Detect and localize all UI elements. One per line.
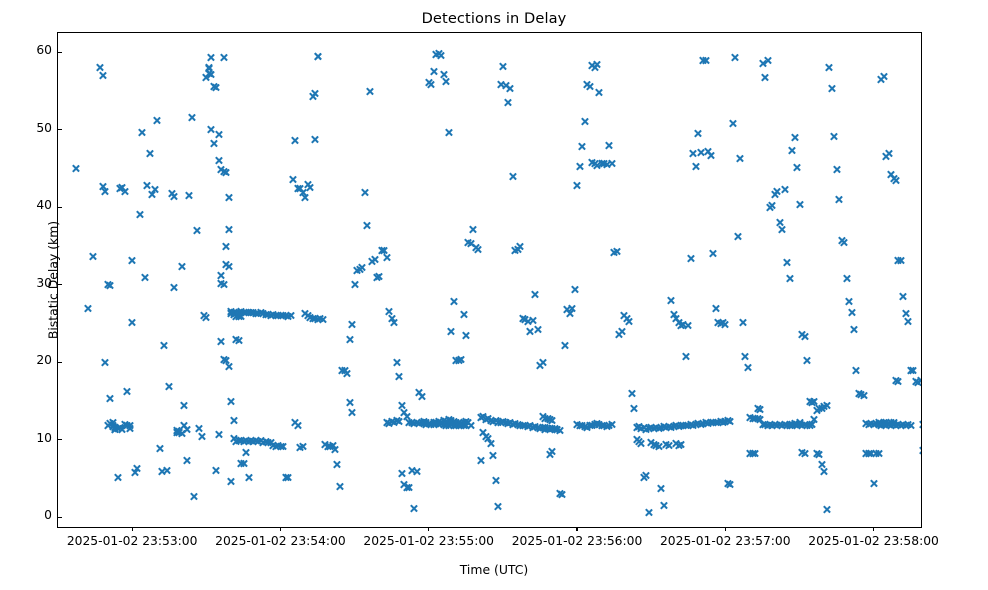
scatter-marker	[100, 358, 109, 367]
scatter-marker	[736, 154, 745, 163]
scatter-marker	[291, 136, 300, 145]
scatter-marker	[170, 283, 179, 292]
scatter-marker	[810, 397, 819, 406]
scatter-marker	[138, 128, 147, 137]
x-tick-label: 2025-01-02 23:58:00	[808, 534, 939, 548]
scatter-marker	[123, 421, 132, 430]
x-tick-mark	[280, 527, 281, 531]
scatter-marker	[575, 162, 584, 171]
scatter-marker	[152, 116, 161, 125]
scatter-marker	[412, 467, 421, 476]
scatter-marker	[222, 242, 231, 251]
x-tick-mark	[725, 527, 726, 531]
scatter-marker	[681, 352, 690, 361]
scatter-marker	[768, 201, 777, 210]
scatter-marker	[577, 142, 586, 151]
y-tick-mark	[58, 517, 62, 518]
scatter-marker	[686, 254, 695, 263]
scatter-marker	[750, 449, 759, 458]
scatter-marker	[370, 255, 379, 264]
scatter-marker	[345, 335, 354, 344]
scatter-marker	[617, 327, 626, 336]
scatter-marker	[701, 56, 710, 65]
scatter-marker	[449, 297, 458, 306]
y-tick-mark	[58, 52, 62, 53]
x-tick-mark	[132, 527, 133, 531]
y-axis-label: Bistatic Delay (km)	[46, 221, 61, 339]
scatter-marker	[71, 164, 80, 173]
y-tick-mark	[58, 129, 62, 130]
scatter-marker	[335, 482, 344, 491]
scatter-marker	[293, 421, 302, 430]
scatter-marker	[207, 53, 216, 62]
scatter-marker	[390, 318, 399, 327]
scatter-marker	[83, 304, 92, 313]
scatter-marker	[105, 281, 114, 290]
scatter-marker	[869, 479, 878, 488]
y-tick-mark	[58, 362, 62, 363]
scatter-marker	[859, 391, 868, 400]
scatter-marker	[820, 467, 829, 476]
scatter-marker	[637, 439, 646, 448]
scatter-marker	[113, 473, 122, 482]
scatter-marker	[800, 449, 809, 458]
scatter-marker	[560, 341, 569, 350]
scatter-marker	[244, 473, 253, 482]
scatter-marker	[607, 159, 616, 168]
scatter-marker	[889, 418, 898, 427]
scatter-marker	[234, 336, 243, 345]
scatter-marker	[795, 200, 804, 209]
scatter-marker	[224, 362, 233, 371]
scatter-marker	[612, 247, 621, 256]
scatter-marker	[333, 460, 342, 469]
scatter-marker	[224, 193, 233, 202]
scatter-marker	[227, 397, 236, 406]
scatter-marker	[691, 162, 700, 171]
scatter-marker	[278, 442, 287, 451]
scatter-marker	[592, 161, 601, 170]
x-tick-mark	[576, 527, 577, 531]
x-tick-mark	[428, 527, 429, 531]
scatter-marker	[508, 172, 517, 181]
scatter-marker	[283, 473, 292, 482]
scatter-marker	[491, 476, 500, 485]
scatter-marker	[486, 439, 495, 448]
scatter-marker	[800, 332, 809, 341]
scatter-marker	[189, 492, 198, 501]
scatter-marker	[365, 87, 374, 96]
x-axis-label: Time (UTC)	[0, 562, 988, 577]
scatter-marker	[140, 273, 149, 282]
scatter-marker	[548, 416, 557, 425]
scatter-marker	[133, 464, 142, 473]
y-tick-label: 10	[36, 431, 52, 445]
scatter-marker	[311, 135, 320, 144]
scatter-marker	[392, 358, 401, 367]
scatter-marker	[187, 113, 196, 122]
scatter-marker	[795, 418, 804, 427]
scatter-marker	[780, 185, 789, 194]
x-tick-label: 2025-01-02 23:53:00	[67, 534, 198, 548]
scatter-marker	[306, 183, 315, 192]
scatter-marker	[849, 325, 858, 334]
scatter-marker	[362, 221, 371, 230]
scatter-marker	[568, 304, 577, 313]
scatter-marker	[395, 372, 404, 381]
scatter-marker	[360, 188, 369, 197]
scatter-marker	[498, 62, 507, 71]
scatter-marker	[503, 98, 512, 107]
scatter-marker	[516, 242, 525, 251]
scatter-marker	[222, 168, 231, 177]
scatter-marker	[629, 404, 638, 413]
scatter-marker	[150, 185, 159, 194]
scatter-marker	[916, 376, 921, 385]
scatter-marker	[909, 366, 918, 375]
scatter-marker	[192, 226, 201, 235]
scatter-marker	[182, 425, 191, 434]
scatter-marker	[726, 417, 735, 426]
scatter-marker	[874, 449, 883, 458]
scatter-marker	[906, 421, 915, 430]
y-tick-label: 20	[36, 353, 52, 367]
scatter-marker	[429, 67, 438, 76]
scatter-marker	[573, 181, 582, 190]
scatter-marker	[348, 320, 357, 329]
scatter-marker	[657, 484, 666, 493]
y-tick-label: 50	[36, 121, 52, 135]
scatter-marker	[229, 416, 238, 425]
scatter-marker	[530, 290, 539, 299]
x-tick-label: 2025-01-02 23:56:00	[512, 534, 643, 548]
scatter-marker	[595, 88, 604, 97]
scatter-marker	[802, 356, 811, 365]
scatter-marker	[822, 401, 831, 410]
scatter-marker	[98, 71, 107, 80]
scatter-marker	[461, 331, 470, 340]
scatter-marker	[135, 210, 144, 219]
scatter-marker	[241, 448, 250, 457]
scatter-marker	[899, 292, 908, 301]
y-tick-mark	[58, 207, 62, 208]
scatter-marker	[659, 501, 668, 510]
scatter-marker	[585, 82, 594, 91]
scatter-marker	[207, 70, 216, 79]
scatter-marker	[404, 483, 413, 492]
scatter-marker	[842, 274, 851, 283]
scatter-marker	[224, 262, 233, 271]
scatter-marker	[834, 195, 843, 204]
scatter-marker	[879, 72, 888, 81]
scatter-marker	[605, 141, 614, 150]
scatter-marker	[313, 52, 322, 61]
scatter-marker	[182, 456, 191, 465]
scatter-marker	[120, 187, 129, 196]
scatter-marker	[684, 321, 693, 330]
scatter-marker	[128, 256, 137, 265]
scatter-marker	[721, 320, 730, 329]
scatter-marker	[830, 132, 839, 141]
scatter-marker	[642, 471, 651, 480]
scatter-marker	[170, 192, 179, 201]
scatter-marker	[180, 401, 189, 410]
scatter-marker	[894, 377, 903, 386]
scatter-marker	[810, 415, 819, 424]
scatter-marker	[437, 51, 446, 60]
scatter-marker	[788, 146, 797, 155]
scatter-marker	[607, 420, 616, 429]
scatter-marker	[558, 490, 567, 499]
scatter-marker	[459, 310, 468, 319]
scatter-marker	[627, 389, 636, 398]
scatter-marker	[469, 225, 478, 234]
scatter-marker	[427, 80, 436, 89]
scatter-marker	[822, 505, 831, 514]
scatter-marker	[844, 297, 853, 306]
scatter-marker	[666, 296, 675, 305]
scatter-marker	[177, 262, 186, 271]
scatter-marker	[827, 84, 836, 93]
scatter-marker	[493, 502, 502, 511]
scatter-marker	[778, 225, 787, 234]
scatter-marker	[533, 325, 542, 334]
scatter-marker	[755, 405, 764, 414]
scatter-marker	[694, 129, 703, 138]
x-tick-label: 2025-01-02 23:57:00	[660, 534, 791, 548]
scatter-marker	[145, 149, 154, 158]
scatter-marker	[884, 149, 893, 158]
scatter-marker	[202, 313, 211, 322]
scatter-marker	[345, 398, 354, 407]
scatter-marker	[731, 53, 740, 62]
scatter-marker	[538, 358, 547, 367]
scatter-marker	[476, 456, 485, 465]
scatter-marker	[298, 442, 307, 451]
scatter-marker	[644, 508, 653, 517]
scatter-marker	[100, 187, 109, 196]
scatter-marker	[815, 450, 824, 459]
x-tick-label: 2025-01-02 23:55:00	[363, 534, 494, 548]
scatter-marker	[548, 447, 557, 456]
scatter-marker	[904, 317, 913, 326]
scatter-marker	[214, 430, 223, 439]
scatter-marker	[676, 440, 685, 449]
scatter-marker	[760, 73, 769, 82]
scatter-marker	[382, 253, 391, 262]
scatter-marker	[165, 382, 174, 391]
y-tick-label: 40	[36, 198, 52, 212]
scatter-marker	[706, 151, 715, 160]
scatter-marker	[239, 459, 248, 468]
scatter-marker	[105, 394, 114, 403]
scatter-marker	[839, 238, 848, 247]
scatter-marker	[832, 165, 841, 174]
scatter-marker	[711, 304, 720, 313]
scatter-marker	[783, 258, 792, 267]
scatter-marker	[785, 274, 794, 283]
scatter-marker	[212, 466, 221, 475]
scatter-marker	[224, 225, 233, 234]
scatter-marker	[446, 327, 455, 336]
scatter-marker	[313, 315, 322, 324]
scatter-marker	[488, 451, 497, 460]
scatter-marker	[330, 445, 339, 454]
scatter-marker	[197, 432, 206, 441]
x-tick-label: 2025-01-02 23:54:00	[215, 534, 346, 548]
scatter-marker	[88, 252, 97, 261]
scatter-marker	[397, 469, 406, 478]
scatter-marker	[624, 317, 633, 326]
scatter-marker	[348, 408, 357, 417]
scatter-marker	[474, 245, 483, 254]
scatter-marker	[212, 83, 221, 92]
y-tick-mark	[58, 439, 62, 440]
scatter-marker	[350, 280, 359, 289]
scatter-marker	[570, 285, 579, 294]
scatter-marker	[123, 387, 132, 396]
scatter-marker	[301, 193, 310, 202]
scatter-marker	[847, 308, 856, 317]
scatter-marker	[790, 133, 799, 142]
scatter-marker	[738, 318, 747, 327]
scatter-points-layer	[58, 33, 921, 527]
scatter-marker	[741, 352, 750, 361]
scatter-marker	[219, 280, 228, 289]
scatter-marker	[728, 119, 737, 128]
scatter-marker	[128, 318, 137, 327]
scatter-marker	[743, 363, 752, 372]
chart-title: Detections in Delay	[0, 10, 988, 27]
scatter-marker	[891, 176, 900, 185]
scatter-marker	[580, 117, 589, 126]
scatter-marker	[506, 84, 515, 93]
scatter-marker	[219, 53, 228, 62]
scatter-marker	[395, 417, 404, 426]
plot-axes: 0102030405060 2025-01-02 23:53:002025-01…	[57, 32, 922, 528]
scatter-marker	[417, 392, 426, 401]
scatter-marker	[184, 191, 193, 200]
scatter-marker	[155, 444, 164, 453]
figure-canvas: Detections in Delay 0102030405060 2025-0…	[0, 0, 988, 590]
scatter-marker	[311, 89, 320, 98]
scatter-marker	[409, 504, 418, 513]
y-tick-label: 60	[36, 43, 52, 57]
scatter-marker	[162, 466, 171, 475]
scatter-marker	[763, 56, 772, 65]
scatter-marker	[825, 63, 834, 72]
x-tick-mark	[873, 527, 874, 531]
scatter-marker	[209, 139, 218, 148]
scatter-marker	[896, 256, 905, 265]
scatter-marker	[553, 425, 562, 434]
scatter-marker	[733, 232, 742, 241]
scatter-marker	[442, 77, 451, 86]
scatter-marker	[236, 312, 245, 321]
scatter-marker	[852, 366, 861, 375]
scatter-marker	[726, 480, 735, 489]
scatter-marker	[286, 311, 295, 320]
scatter-marker	[592, 60, 601, 69]
scatter-marker	[343, 369, 352, 378]
scatter-marker	[357, 263, 366, 272]
scatter-marker	[214, 130, 223, 139]
scatter-marker	[461, 417, 470, 426]
scatter-marker	[444, 128, 453, 137]
scatter-marker	[456, 355, 465, 364]
scatter-marker	[217, 337, 226, 346]
scatter-marker	[375, 272, 384, 281]
scatter-marker	[792, 163, 801, 172]
scatter-marker	[708, 249, 717, 258]
y-tick-label: 0	[44, 508, 52, 522]
scatter-marker	[227, 477, 236, 486]
scatter-marker	[160, 341, 169, 350]
